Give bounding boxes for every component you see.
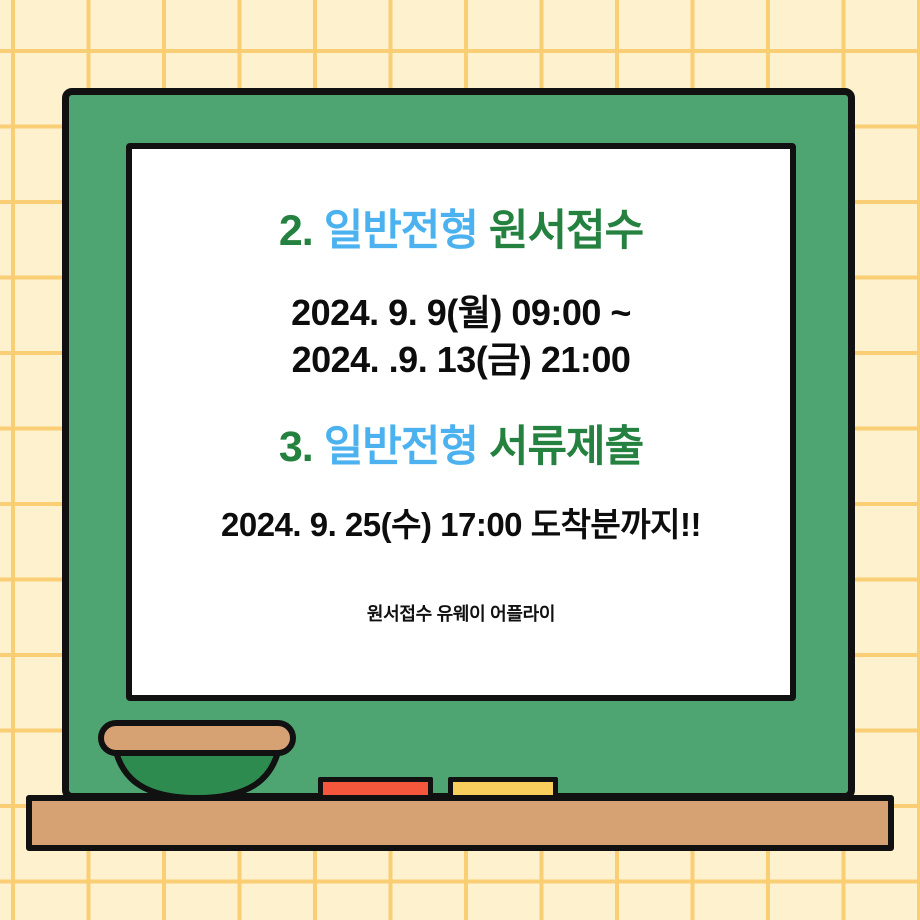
heading-three-tail: 서류제출 — [489, 423, 643, 471]
poster-canvas: 2. 일반전형 원서접수 2024. 9. 9(월) 09:00 ~ 2024.… — [0, 0, 920, 920]
heading-section-three: 3. 일반전형 서류제출 — [279, 423, 643, 472]
footnote-text: 원서접수 유웨이 어플라이 — [367, 600, 555, 626]
heading-two-highlight: 일반전형 — [324, 207, 478, 255]
heading-three-number: 3. — [279, 423, 313, 471]
chalk-tray — [26, 795, 894, 851]
deadline-text: 2024. 9. 25(수) 17:00 도착분까지!! — [221, 498, 701, 546]
heading-three-highlight: 일반전형 — [324, 423, 478, 471]
chalkboard: 2. 일반전형 원서접수 2024. 9. 9(월) 09:00 ~ 2024.… — [62, 88, 855, 800]
schedule-line-2: 2024. .9. 13(금) 21:00 — [291, 337, 631, 383]
schedule-block: 2024. 9. 9(월) 09:00 ~ 2024. .9. 13(금) 21… — [291, 290, 631, 382]
heading-section-two: 2. 일반전형 원서접수 — [279, 207, 643, 256]
heading-two-number: 2. — [279, 207, 313, 255]
schedule-line-1: 2024. 9. 9(월) 09:00 ~ — [291, 290, 631, 336]
eraser-bowl-icon — [98, 720, 296, 800]
heading-two-tail: 원서접수 — [489, 207, 643, 255]
board-white-panel: 2. 일반전형 원서접수 2024. 9. 9(월) 09:00 ~ 2024.… — [126, 143, 796, 701]
